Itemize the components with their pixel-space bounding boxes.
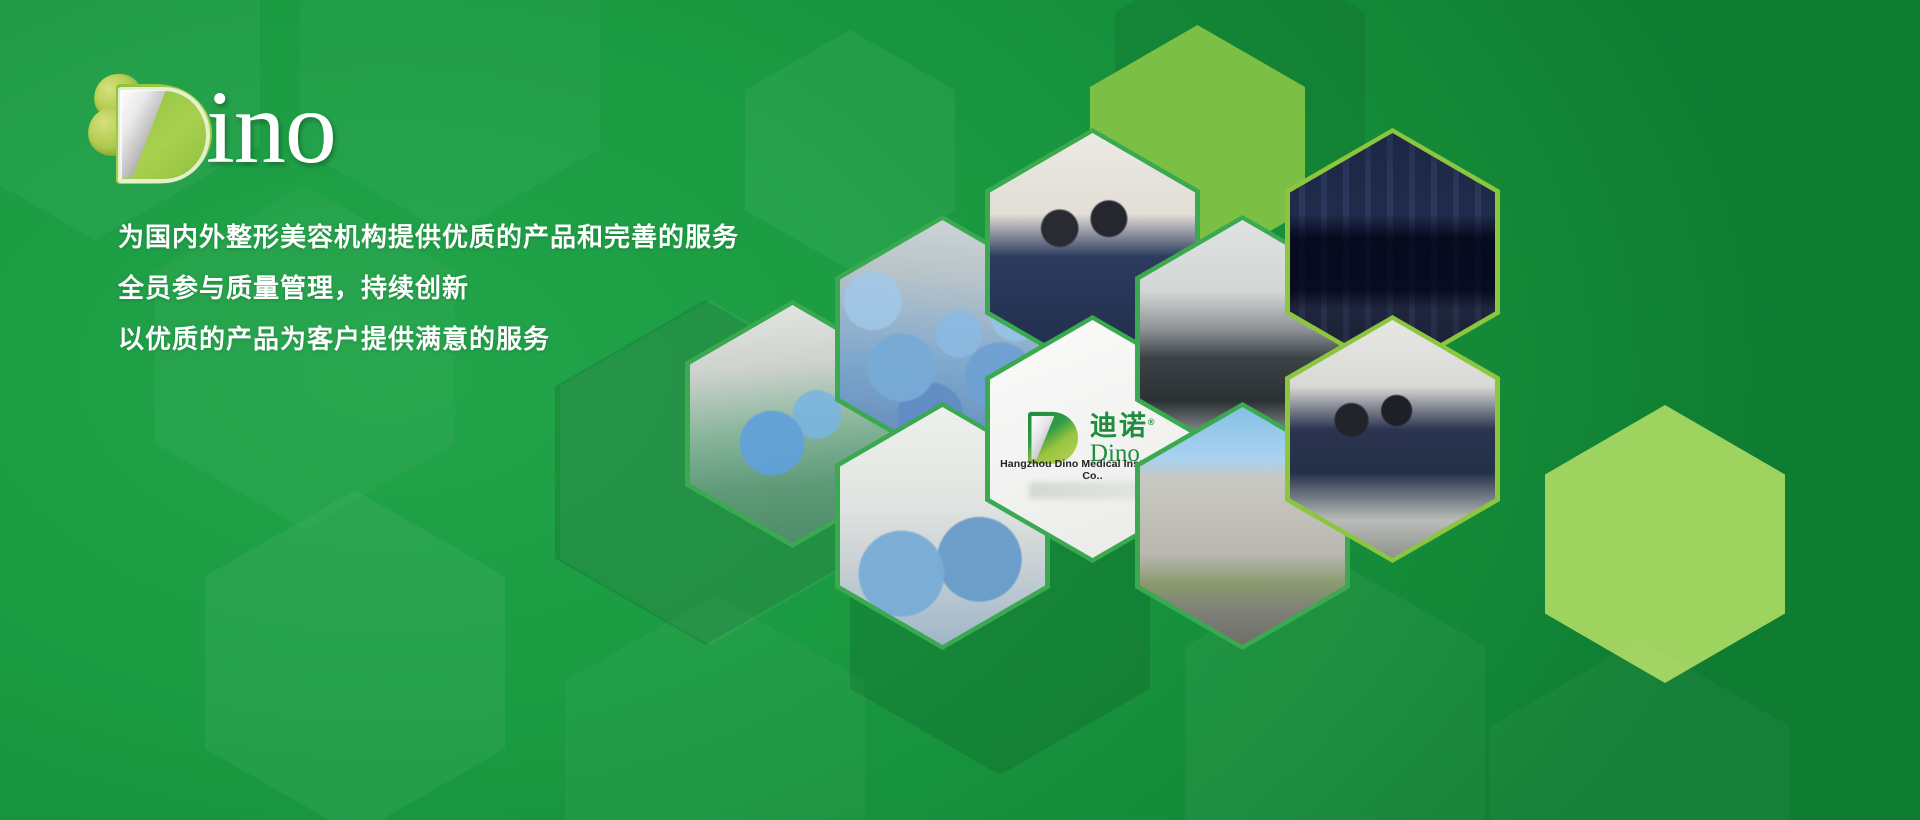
bg-hexagon-decor: [205, 490, 505, 820]
d-leaf-monogram-icon: [116, 84, 212, 184]
slogan-block: 为国内外整形美容机构提供优质的产品和完善的服务 全员参与质量管理，持续创新 以优…: [118, 212, 739, 365]
bg-hexagon-decor: [1490, 640, 1790, 820]
slogan-line-2: 全员参与质量管理，持续创新: [118, 263, 739, 314]
brand-wordmark: ino: [206, 76, 336, 180]
slogan-line-3: 以优质的产品为客户提供满意的服务: [118, 314, 739, 365]
company-profile-banner: ino 为国内外整形美容机构提供优质的产品和完善的服务 全员参与质量管理，持续创…: [0, 0, 1920, 820]
dino-leaf-mark-icon: [1028, 412, 1078, 464]
photo-hex-cnc-operators[interactable]: [1285, 315, 1500, 563]
brand-logo[interactable]: ino: [88, 62, 508, 184]
honeycomb-photo-cluster: 迪诺® Dino Hangzhou Dino Medical Instrumen…: [660, 95, 1920, 615]
slogan-line-1: 为国内外整形美容机构提供优质的产品和完善的服务: [118, 212, 739, 263]
